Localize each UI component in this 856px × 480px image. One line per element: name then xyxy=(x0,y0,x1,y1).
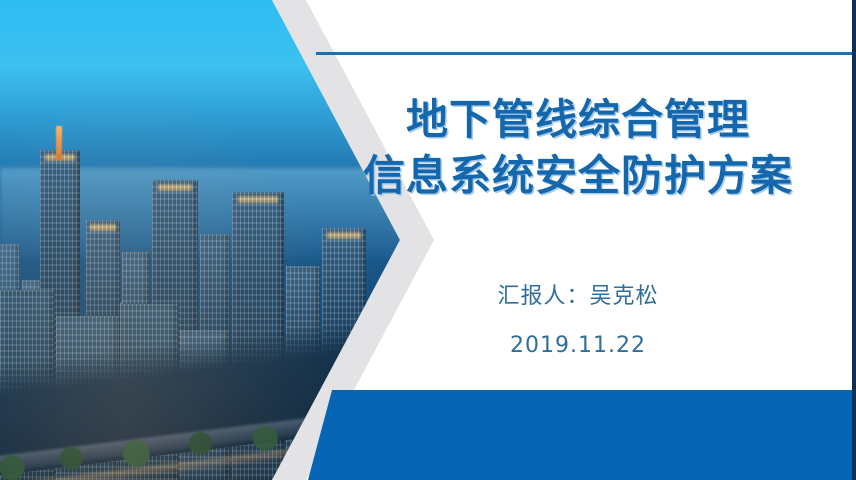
tower-spire xyxy=(56,126,62,160)
presenter-label: 汇报人：吴克松 xyxy=(300,282,856,313)
title-block: 地下管线综合管理 信息系统安全防护方案 xyxy=(300,92,856,204)
top-divider-rule xyxy=(316,52,856,55)
title-line-2: 信息系统安全防护方案 xyxy=(300,148,856,204)
title-line-1: 地下管线综合管理 xyxy=(300,92,856,148)
date-label: 2019.11.22 xyxy=(300,333,856,358)
title-slide: 地下管线综合管理 信息系统安全防护方案 汇报人：吴克松 2019.11.22 xyxy=(0,0,856,480)
subtitle-block: 汇报人：吴克松 2019.11.22 xyxy=(300,282,856,358)
right-edge-strip xyxy=(852,0,856,480)
